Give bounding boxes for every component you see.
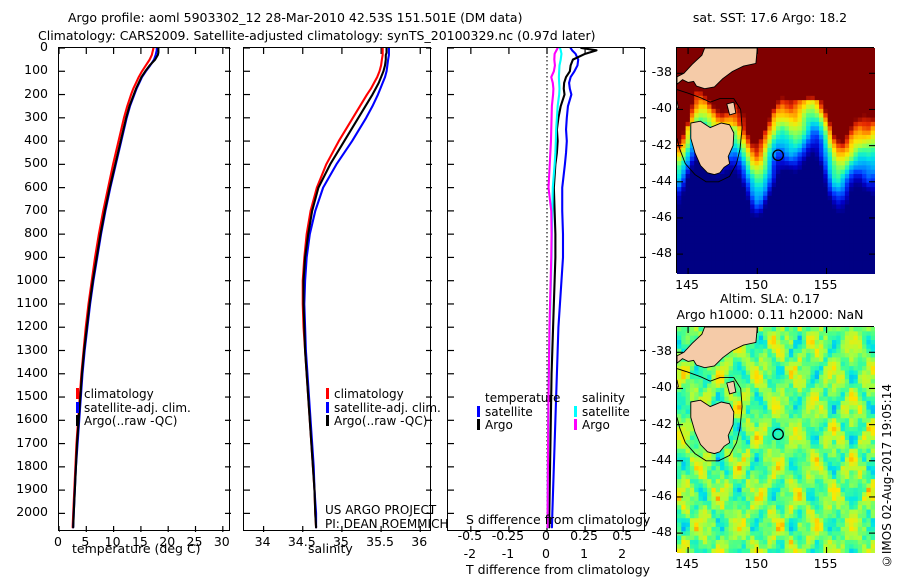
legend-label-satellite-adj: satellite-adj. clim. [84,401,191,415]
depth-tick-1900: 1900 [0,481,48,496]
legend-label-satellite-adj-2: satellite-adj. clim. [334,401,441,415]
s-diff-tick-0p5: 0.5 [598,528,646,543]
legend-item-sal-satellite: satellite [574,406,630,420]
depth-tick-100: 100 [0,62,48,77]
legend-item-temp-argo: Argo [477,419,560,433]
temperature-legend: climatology satellite-adj. clim. Argo(..… [76,388,191,429]
depth-tick-1500: 1500 [0,388,48,403]
salinity-legend: climatology satellite-adj. clim. Argo(..… [326,388,441,429]
sst-lat-tick-neg42: -42 [642,137,672,152]
legend-label-temp-argo: Argo [485,418,513,432]
sst-map-title: sat. SST: 17.6 Argo: 18.2 [660,10,880,25]
legend-swatch-temp-satellite [477,406,480,417]
legend-swatch-argo [76,415,79,426]
legend-item-argo: Argo(..raw -QC) [76,415,191,429]
legend-swatch-argo-2 [326,415,329,426]
legend-swatch-temp-argo [477,419,480,430]
sst-map-canvas [677,48,875,274]
salinity-tick-36: 36 [397,534,441,549]
sla-lat-tick-neg40: -40 [642,379,672,394]
temperature-axis-label: temperature (deg C) [72,541,201,556]
depth-tick-1300: 1300 [0,342,48,357]
legend-item-climatology-2: climatology [326,388,441,402]
t-diff-tick-neg1: -1 [492,546,524,561]
sla-map-canvas [677,327,875,553]
legend-swatch-satellite-adj [76,402,79,413]
figure-title-line2: Climatology: CARS2009. Satellite-adjuste… [38,28,595,43]
salinity-tick-34: 34 [241,534,285,549]
sst-map[interactable] [676,47,874,273]
sla-lat-tick-neg44: -44 [642,452,672,467]
sla-lon-tick-155: 155 [806,556,846,571]
depth-tick-1600: 1600 [0,411,48,426]
legend-header-salinity: salinity [582,392,630,406]
depth-tick-600: 600 [0,179,48,194]
legend-item-argo-2: Argo(..raw -QC) [326,415,441,429]
sst-lat-tick-neg44: -44 [642,173,672,188]
difference-legend-salinity: salinity satellite Argo [574,392,630,433]
legend-item-sal-argo: Argo [574,419,630,433]
legend-label-climatology: climatology [84,387,154,401]
difference-legend: temperature satellite Argo [477,392,560,433]
depth-tick-1400: 1400 [0,365,48,380]
depth-tick-200: 200 [0,86,48,101]
s-difference-label: S difference from climatology [466,512,650,527]
difference-profile-panel[interactable] [447,47,645,531]
pi-label: PI: DEAN ROEMMICH [325,517,448,531]
sla-lat-tick-neg38: -38 [642,343,672,358]
temperature-profile-plot [59,48,231,532]
legend-item-satellite-adj: satellite-adj. clim. [76,402,191,416]
sla-map-title-line2: Argo h1000: 0.11 h2000: NaN [660,307,880,322]
sla-lat-tick-neg46: -46 [642,488,672,503]
legend-swatch-sal-argo [574,419,577,430]
legend-label-argo-2: Argo(..raw -QC) [334,414,427,428]
legend-item-satellite-adj-2: satellite-adj. clim. [326,402,441,416]
copyright-label: ©IMOS 02-Aug-2017 19:05:14 [880,384,894,568]
sst-lon-tick-145: 145 [667,277,707,292]
depth-tick-1000: 1000 [0,272,48,287]
salinity-axis-label: salinity [308,541,353,556]
salinity-profile-plot [244,48,432,532]
depth-tick-1700: 1700 [0,435,48,450]
figure-root: Argo profile: aoml 5903302_12 28-Mar-201… [0,0,900,580]
sla-lat-tick-neg42: -42 [642,416,672,431]
temperature-profile-panel[interactable] [58,47,230,531]
depth-tick-700: 700 [0,202,48,217]
sla-map[interactable] [676,326,874,552]
depth-tick-900: 900 [0,248,48,263]
depth-tick-300: 300 [0,109,48,124]
depth-tick-500: 500 [0,155,48,170]
t-diff-tick-2: 2 [606,546,638,561]
legend-item-climatology: climatology [76,388,191,402]
legend-item-temp-satellite: satellite [477,406,560,420]
depth-tick-0: 0 [0,39,48,54]
sst-lat-tick-neg48: -48 [642,245,672,260]
depth-tick-2000: 2000 [0,504,48,519]
legend-header-temperature: temperature [485,392,560,406]
legend-label-sal-argo: Argo [582,418,610,432]
sla-lon-tick-145: 145 [667,556,707,571]
t-difference-label: T difference from climatology [466,562,650,577]
legend-swatch-climatology-2 [326,388,329,399]
t-diff-tick-0: 0 [530,546,562,561]
sla-lat-tick-neg48: -48 [642,524,672,539]
depth-tick-400: 400 [0,132,48,147]
sst-lat-tick-neg40: -40 [642,100,672,115]
depth-tick-1800: 1800 [0,458,48,473]
legend-label-sal-satellite: satellite [582,405,630,419]
salinity-profile-panel[interactable] [243,47,431,531]
t-diff-tick-1: 1 [568,546,600,561]
difference-profile-plot [448,48,646,532]
legend-label-temp-satellite: satellite [485,405,533,419]
t-diff-tick-neg2: -2 [454,546,486,561]
sst-lon-tick-150: 150 [736,277,776,292]
sst-lat-tick-neg46: -46 [642,209,672,224]
legend-swatch-satellite-adj-2 [326,402,329,413]
sla-lon-tick-150: 150 [736,556,776,571]
depth-tick-1200: 1200 [0,318,48,333]
sst-lat-tick-neg38: -38 [642,64,672,79]
legend-label-climatology-2: climatology [334,387,404,401]
sla-map-title-line1: Altim. SLA: 0.17 [660,291,880,306]
legend-label-argo: Argo(..raw -QC) [84,414,177,428]
depth-tick-800: 800 [0,225,48,240]
legend-swatch-climatology [76,388,79,399]
us-argo-project-label: US ARGO PROJECT [325,503,436,517]
temperature-tick-30: 30 [204,534,240,549]
sst-lon-tick-155: 155 [806,277,846,292]
figure-title-line1: Argo profile: aoml 5903302_12 28-Mar-201… [68,10,522,25]
legend-swatch-sal-satellite [574,406,577,417]
salinity-tick-35p5: 35.5 [358,534,402,549]
depth-tick-1100: 1100 [0,295,48,310]
